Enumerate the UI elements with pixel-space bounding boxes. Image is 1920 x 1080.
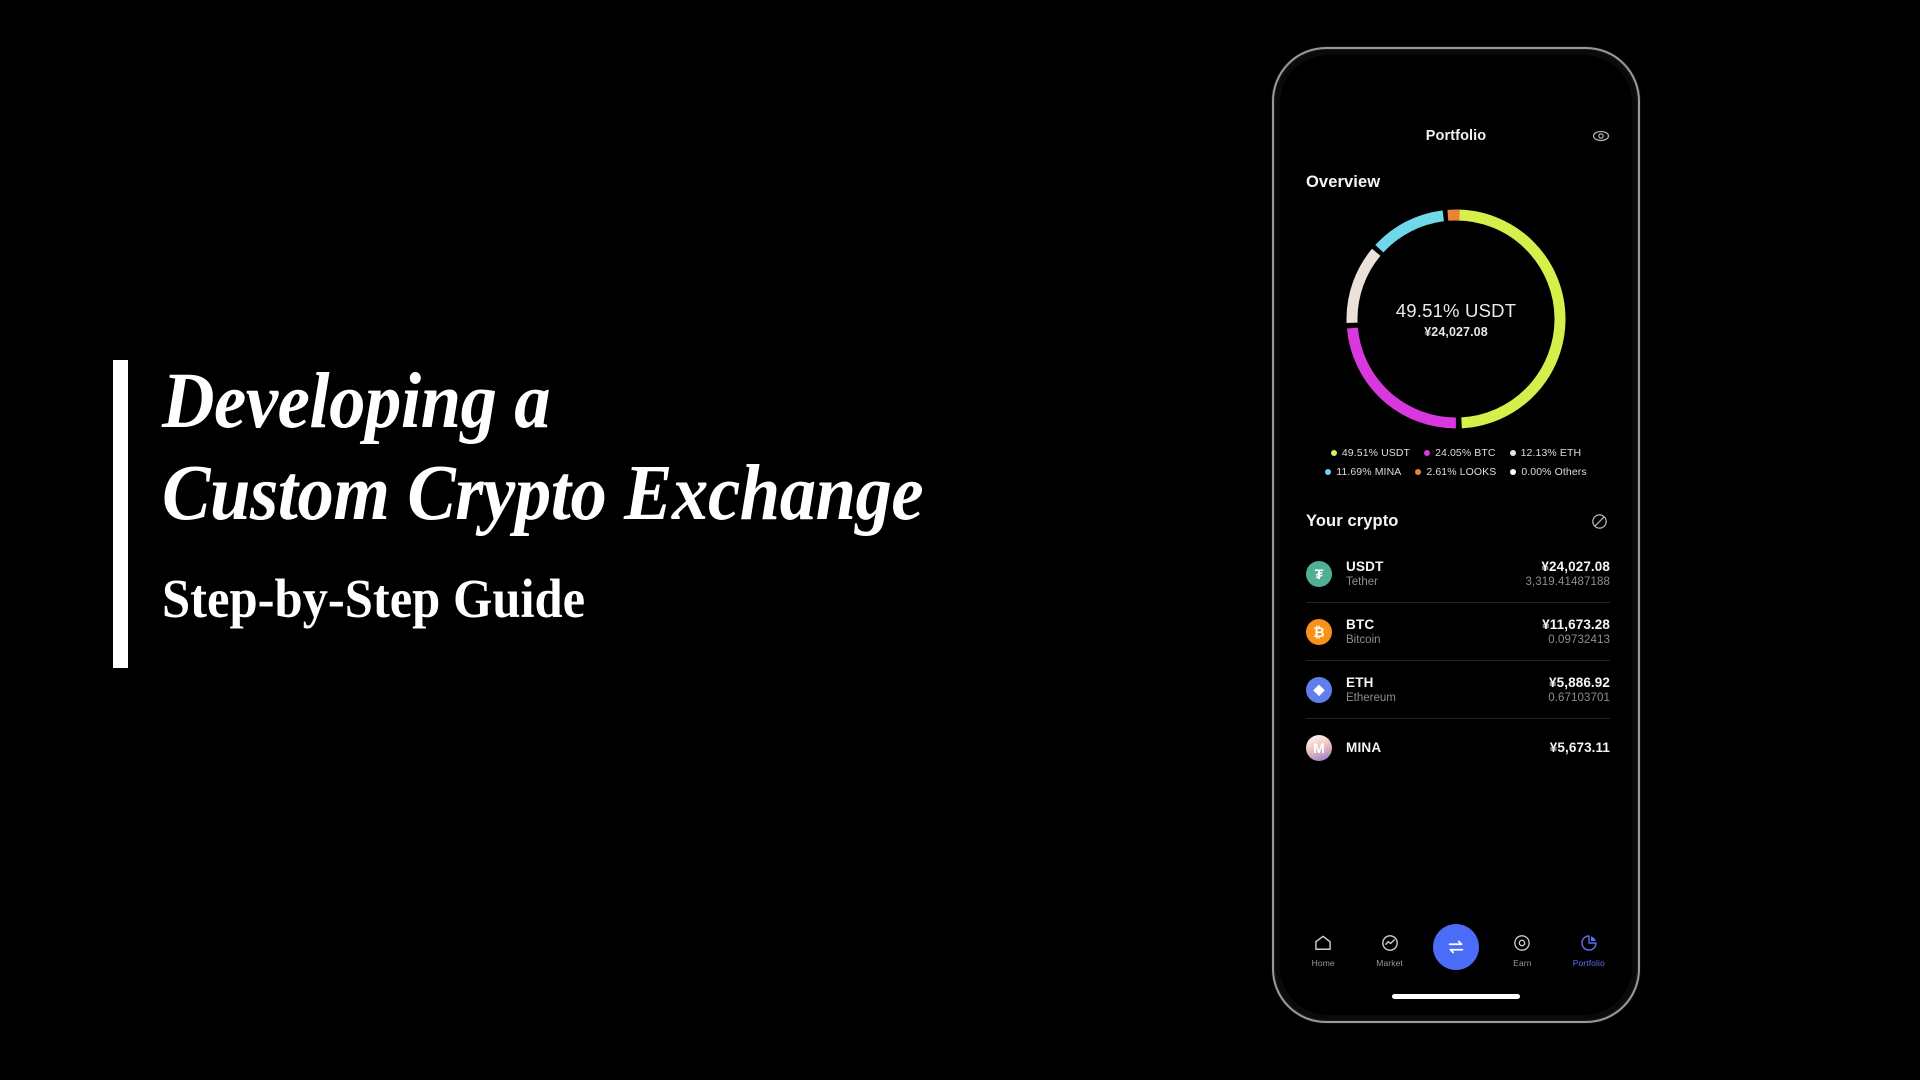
home-icon: [1313, 932, 1334, 953]
legend-item-eth[interactable]: 12.13% ETH: [1510, 447, 1582, 459]
table-row[interactable]: ◆ ETH Ethereum ¥5,886.92 0.67103701: [1306, 661, 1610, 719]
coin-name-group: ETH Ethereum: [1346, 675, 1548, 704]
market-icon: [1379, 932, 1400, 953]
coin-quantity: 0.09732413: [1548, 634, 1610, 646]
legend-label: 24.05% BTC: [1435, 447, 1496, 459]
legend-item-others[interactable]: 0.00% Others: [1510, 466, 1586, 478]
nav-item-portfolio[interactable]: Portfolio: [1557, 932, 1621, 968]
eth-coin-icon: ◆: [1306, 677, 1332, 703]
hero-block: Developing a Custom Crypto Exchange Step…: [113, 360, 1173, 670]
legend-label: 12.13% ETH: [1521, 447, 1582, 459]
page-subtitle: Step-by-Step Guide: [162, 568, 923, 630]
legend-dot-icon: [1325, 469, 1331, 475]
bottom-navigation: Home Market: [1280, 921, 1632, 979]
hero-text-group: Developing a Custom Crypto Exchange Step…: [128, 360, 989, 670]
hero-accent-bar: [113, 360, 128, 668]
coin-fullname: Ethereum: [1346, 692, 1548, 704]
home-indicator: [1392, 994, 1520, 999]
coin-symbol: BTC: [1346, 617, 1542, 632]
coin-quantity: 3,319.41487188: [1525, 576, 1610, 588]
coin-name-group: BTC Bitcoin: [1346, 617, 1542, 646]
legend-item-btc[interactable]: 24.05% BTC: [1424, 447, 1496, 459]
donut-center-percent: 49.51% USDT: [1396, 300, 1516, 322]
table-row[interactable]: ₿ BTC Bitcoin ¥11,673.28 0.09732413: [1306, 603, 1610, 661]
your-crypto-header: Your crypto: [1306, 508, 1610, 534]
legend-label: 11.69% MINA: [1336, 466, 1401, 478]
legend-label: 0.00% Others: [1521, 466, 1586, 478]
legend-label: 2.61% LOOKS: [1426, 466, 1496, 478]
legend-row: 11.69% MINA 2.61% LOOKS 0.00% Others: [1325, 466, 1587, 478]
earn-icon: [1512, 932, 1533, 953]
coin-symbol: ETH: [1346, 675, 1548, 690]
btc-coin-icon: ₿: [1306, 619, 1332, 645]
nav-label: Earn: [1513, 958, 1531, 968]
legend-item-usdt[interactable]: 49.51% USDT: [1331, 447, 1410, 459]
swap-icon[interactable]: [1433, 924, 1479, 970]
legend-item-looks[interactable]: 2.61% LOOKS: [1415, 466, 1496, 478]
donut-center-labels: 49.51% USDT ¥24,027.08: [1340, 203, 1572, 435]
overview-label: Overview: [1306, 173, 1380, 192]
chart-legend: 49.51% USDT 24.05% BTC 12.13% ETH 11.69%…: [1280, 447, 1632, 478]
coin-symbol: USDT: [1346, 559, 1525, 574]
legend-dot-icon: [1424, 450, 1430, 456]
app-title: Portfolio: [1426, 128, 1487, 144]
coin-fiat-value: ¥11,673.28: [1542, 617, 1610, 632]
nav-label: Home: [1312, 958, 1335, 968]
nav-item-market[interactable]: Market: [1358, 932, 1422, 968]
legend-dot-icon: [1331, 450, 1337, 456]
app-header: Portfolio: [1280, 121, 1632, 151]
coin-fiat-value: ¥5,886.92: [1549, 675, 1610, 690]
portfolio-icon: [1578, 932, 1599, 953]
coin-fiat-value: ¥24,027.08: [1541, 559, 1610, 574]
phone-mockup: Portfolio Overview: [1272, 47, 1640, 1023]
legend-dot-icon: [1510, 469, 1516, 475]
coin-quantity: 0.67103701: [1548, 692, 1610, 704]
portfolio-donut-chart[interactable]: 49.51% USDT ¥24,027.08: [1340, 203, 1572, 435]
usdt-coin-icon: ₮: [1306, 561, 1332, 587]
coin-fullname: Tether: [1346, 576, 1525, 588]
eye-icon[interactable]: [1590, 125, 1612, 147]
nav-label: Market: [1376, 958, 1403, 968]
legend-dot-icon: [1510, 450, 1516, 456]
coin-symbol: MINA: [1346, 740, 1550, 755]
hide-balances-icon[interactable]: [1588, 510, 1610, 532]
table-row[interactable]: ₮ USDT Tether ¥24,027.08 3,319.41487188: [1306, 545, 1610, 603]
nav-item-earn[interactable]: Earn: [1490, 932, 1554, 968]
mina-coin-icon: M: [1306, 735, 1332, 761]
your-crypto-title: Your crypto: [1306, 512, 1398, 531]
legend-label: 49.51% USDT: [1342, 447, 1410, 459]
nav-item-home[interactable]: Home: [1291, 932, 1355, 968]
coin-fullname: Bitcoin: [1346, 634, 1542, 646]
coin-name-group: MINA: [1346, 740, 1550, 757]
coin-value-group: ¥5,673.11: [1550, 740, 1610, 757]
legend-dot-icon: [1415, 469, 1421, 475]
coin-value-group: ¥11,673.28 0.09732413: [1542, 617, 1610, 646]
coin-value-group: ¥5,886.92 0.67103701: [1548, 675, 1610, 704]
legend-item-mina[interactable]: 11.69% MINA: [1325, 466, 1401, 478]
coin-fiat-value: ¥5,673.11: [1550, 740, 1610, 755]
nav-item-swap[interactable]: [1424, 930, 1488, 970]
page-title: Developing a Custom Crypto Exchange: [162, 356, 923, 540]
coin-value-group: ¥24,027.08 3,319.41487188: [1525, 559, 1610, 588]
coin-name-group: USDT Tether: [1346, 559, 1525, 588]
phone-screen: Portfolio Overview: [1280, 55, 1632, 1015]
legend-row: 49.51% USDT 24.05% BTC 12.13% ETH: [1331, 447, 1581, 459]
donut-center-amount: ¥24,027.08: [1424, 325, 1488, 339]
table-row[interactable]: M MINA ¥5,673.11: [1306, 719, 1610, 777]
nav-label: Portfolio: [1573, 958, 1605, 968]
